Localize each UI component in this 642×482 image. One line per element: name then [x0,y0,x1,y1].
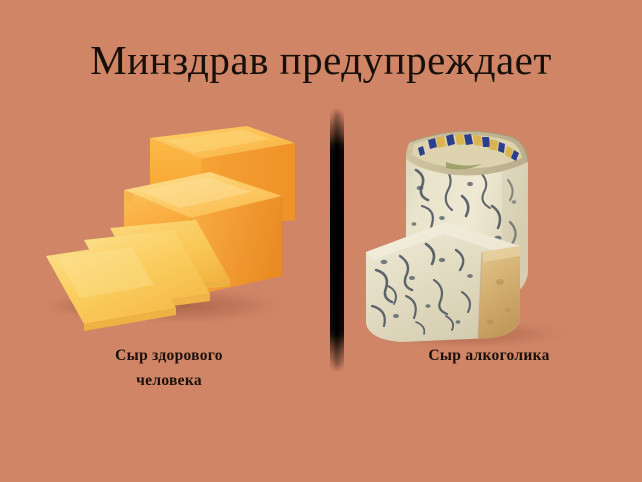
blue-cheese-photo [350,110,628,350]
cheddar-cheese-illustration [14,110,324,350]
vertical-divider [330,108,344,372]
blue-cheese-block [366,222,520,342]
caption-line-1: Сыр алкоголика [350,343,628,368]
panel-alcoholic-cheese: Сыр алкоголика [350,110,628,400]
page-title: Минздрав предупреждает [0,36,642,84]
panel-healthy-cheese: Сыр здорового человека [14,110,324,400]
caption-line-1: Сыр здорового [14,343,324,368]
blue-cheese-illustration [350,110,628,350]
cheddar-cheese-photo [14,110,324,350]
caption-line-2: человека [14,368,324,393]
caption-healthy-cheese: Сыр здорового человека [14,343,324,393]
meme-slide: Минздрав предупреждает [0,0,642,482]
caption-alcoholic-cheese: Сыр алкоголика [350,343,628,368]
